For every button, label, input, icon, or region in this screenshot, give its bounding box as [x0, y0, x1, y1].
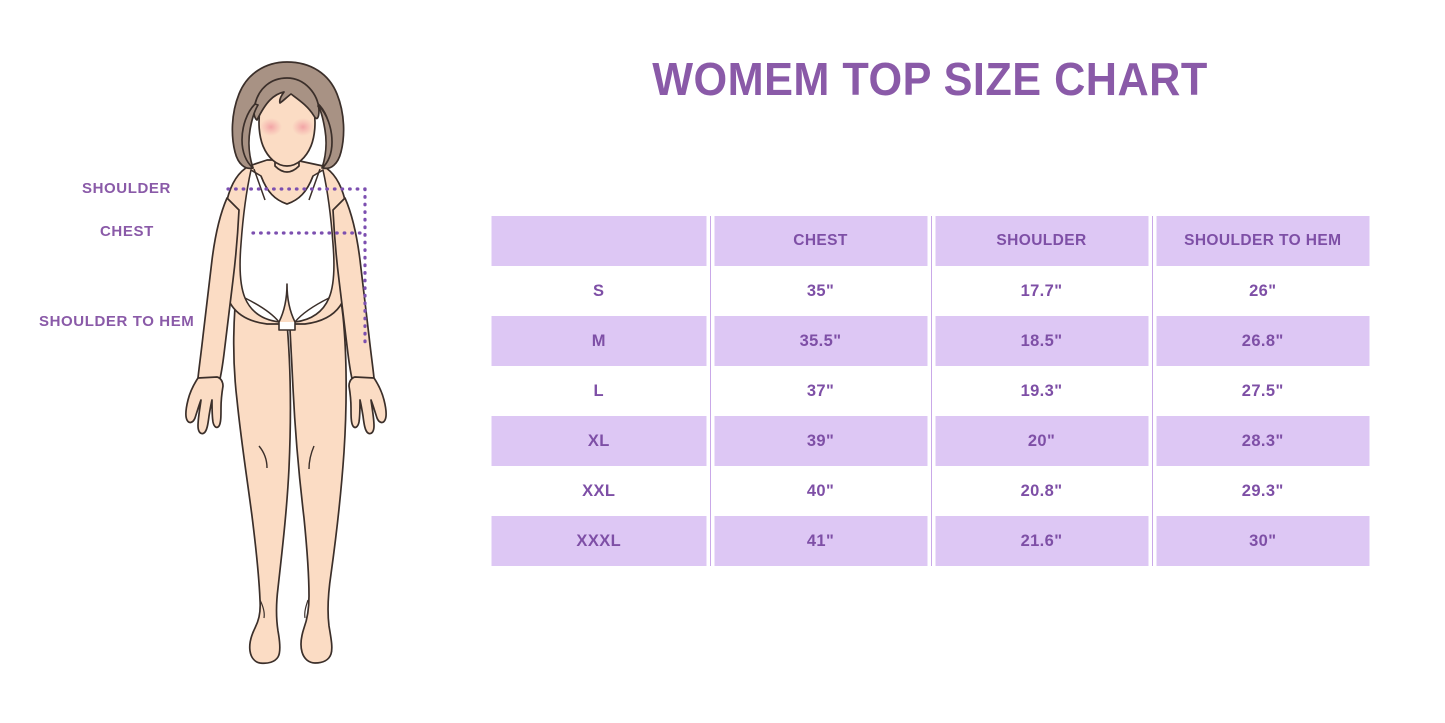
cell-shoulder: 21.6"	[934, 516, 1148, 566]
cell-size: XXL	[491, 466, 706, 516]
cell-chest: 41"	[713, 516, 927, 566]
cell-size: L	[491, 366, 706, 416]
cell-chest: 39"	[713, 416, 927, 466]
table-header: CHEST SHOULDER SHOULDER TO HEM	[488, 216, 1373, 266]
column-header-shoulder: SHOULDER	[934, 216, 1148, 266]
table-row: M 35.5" 18.5" 26.8"	[488, 316, 1373, 366]
cell-chest: 40"	[713, 466, 927, 516]
cell-size: XXXL	[491, 516, 706, 566]
cell-chest: 35.5"	[713, 316, 927, 366]
table-row: L 37" 19.3" 27.5"	[488, 366, 1373, 416]
table-row: XL 39" 20" 28.3"	[488, 416, 1373, 466]
cell-shoulder: 17.7"	[934, 266, 1148, 316]
cell-shoulder: 20.8"	[934, 466, 1148, 516]
column-header-shoulder-to-hem: SHOULDER TO HEM	[1155, 216, 1369, 266]
cell-shoulder-to-hem: 26.8"	[1155, 316, 1369, 366]
table-header-row: CHEST SHOULDER SHOULDER TO HEM	[488, 216, 1373, 266]
cell-shoulder-to-hem: 28.3"	[1155, 416, 1369, 466]
cell-chest: 35"	[713, 266, 927, 316]
cell-chest: 37"	[713, 366, 927, 416]
table-body: S 35" 17.7" 26" M 35.5" 18.5" 26.8" L 37…	[488, 266, 1373, 566]
figure-head	[232, 62, 343, 172]
cell-size: XL	[491, 416, 706, 466]
column-header-chest: CHEST	[713, 216, 927, 266]
measurement-label-chest: CHEST	[100, 223, 154, 240]
measurement-label-shoulder-to-hem: SHOULDER TO HEM	[39, 313, 194, 330]
measurement-label-shoulder: SHOULDER	[82, 180, 171, 197]
cell-shoulder-to-hem: 26"	[1155, 266, 1369, 316]
table-row: S 35" 17.7" 26"	[488, 266, 1373, 316]
size-chart-table: CHEST SHOULDER SHOULDER TO HEM S 35" 17.…	[488, 216, 1373, 566]
table-row: XXXL 41" 21.6" 30"	[488, 516, 1373, 566]
table-row: XXL 40" 20.8" 29.3"	[488, 466, 1373, 516]
cell-size: M	[491, 316, 706, 366]
body-figure-illustration	[175, 48, 415, 688]
cell-shoulder-to-hem: 29.3"	[1155, 466, 1369, 516]
cell-shoulder: 18.5"	[934, 316, 1148, 366]
cell-shoulder: 20"	[934, 416, 1148, 466]
cell-size: S	[491, 266, 706, 316]
cell-shoulder: 19.3"	[934, 366, 1148, 416]
column-header-size	[491, 216, 706, 266]
cell-shoulder-to-hem: 30"	[1155, 516, 1369, 566]
cell-shoulder-to-hem: 27.5"	[1155, 366, 1369, 416]
page-title: WOMEM TOP SIZE CHART	[498, 52, 1363, 106]
